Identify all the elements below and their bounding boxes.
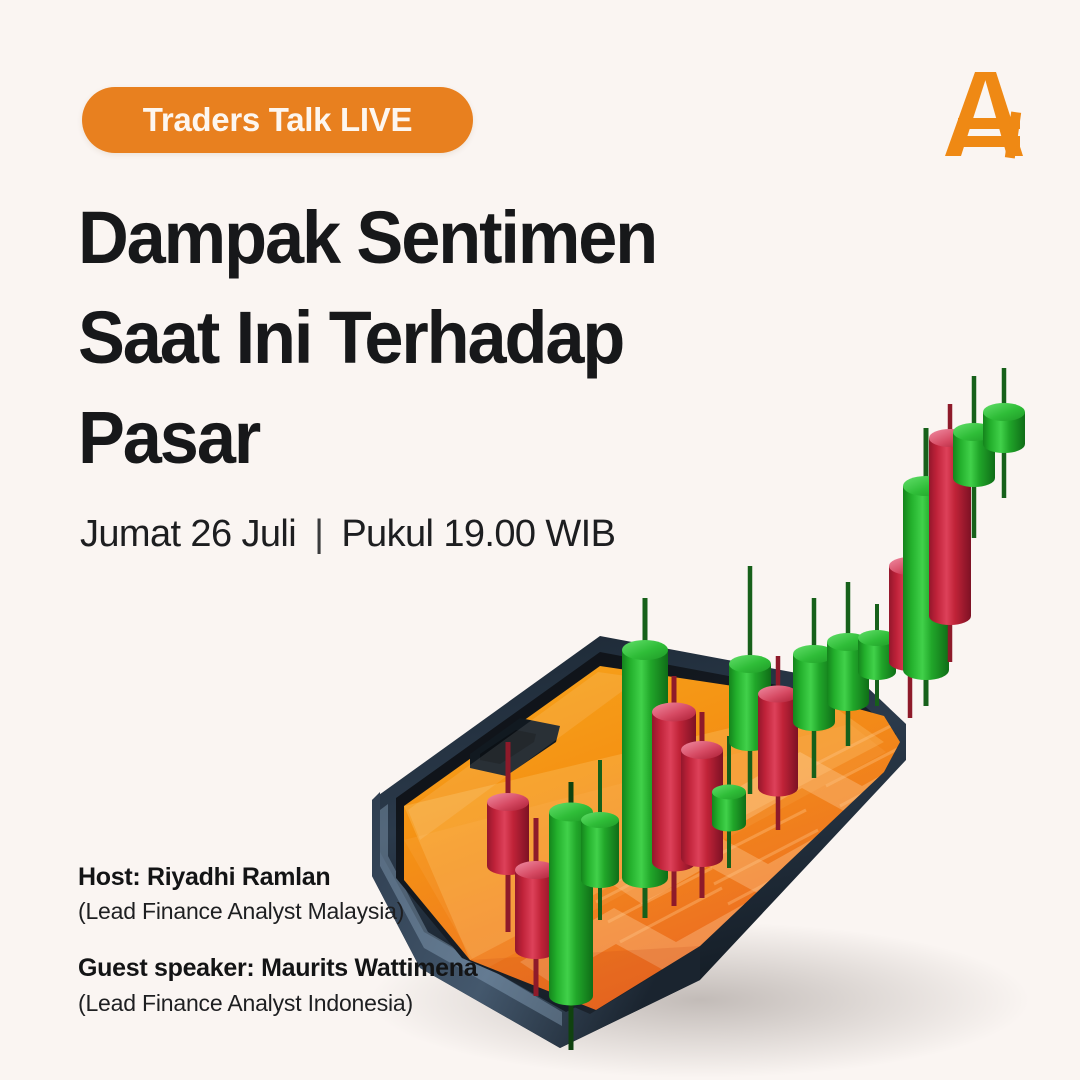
candle-18 [983,368,1025,498]
phone-screen-content [404,704,960,1010]
candle-3 [549,782,593,1050]
headline-line-3: Pasar [78,388,800,488]
event-date: Jumat 26 Juli [80,513,296,555]
candle-4 [581,760,619,920]
candle-16 [929,404,971,662]
event-datetime: Jumat 26 Juli | Pukul 19.00 WIB [80,513,615,556]
candle-14 [889,522,931,718]
brand-logo-a-icon [928,56,1038,166]
candle-15 [903,428,949,706]
candle-9 [729,566,771,794]
candle-17 [953,376,995,538]
credits-block: Host: Riyadhi Ramlan (Lead Finance Analy… [78,862,477,1045]
event-time: Pukul 19.00 WIB [341,513,615,555]
candle-8 [712,736,746,868]
headline-line-2: Saat Ini Terhadap [78,288,800,388]
guest-role: (Lead Finance Analyst Indonesia) [78,988,477,1019]
guest-name: Guest speaker: Maurits Wattimena [78,953,477,984]
live-badge[interactable]: Traders Talk LIVE [82,87,473,153]
candle-13 [858,604,896,706]
host-name: Host: Riyadhi Ramlan [78,862,477,893]
candle-1 [487,742,529,932]
guest-credit: Guest speaker: Maurits Wattimena (Lead F… [78,953,477,1018]
candle-11 [793,598,835,778]
candle-5 [622,598,668,918]
candle-6 [652,676,696,906]
live-badge-label: Traders Talk LIVE [143,101,412,139]
host-credit: Host: Riyadhi Ramlan (Lead Finance Analy… [78,862,477,927]
headline-line-1: Dampak Sentimen [78,188,800,288]
candle-7 [681,712,723,898]
page-title: Dampak Sentimen Saat Ini Terhadap Pasar [78,188,800,488]
candle-12 [827,582,869,746]
candle-2 [515,818,557,996]
poster-canvas: Traders Talk LIVE Dampak Sentimen Saat I… [0,0,1080,1080]
host-role: (Lead Finance Analyst Malaysia) [78,896,477,927]
candle-10 [758,656,798,830]
datetime-separator: | [314,513,323,556]
